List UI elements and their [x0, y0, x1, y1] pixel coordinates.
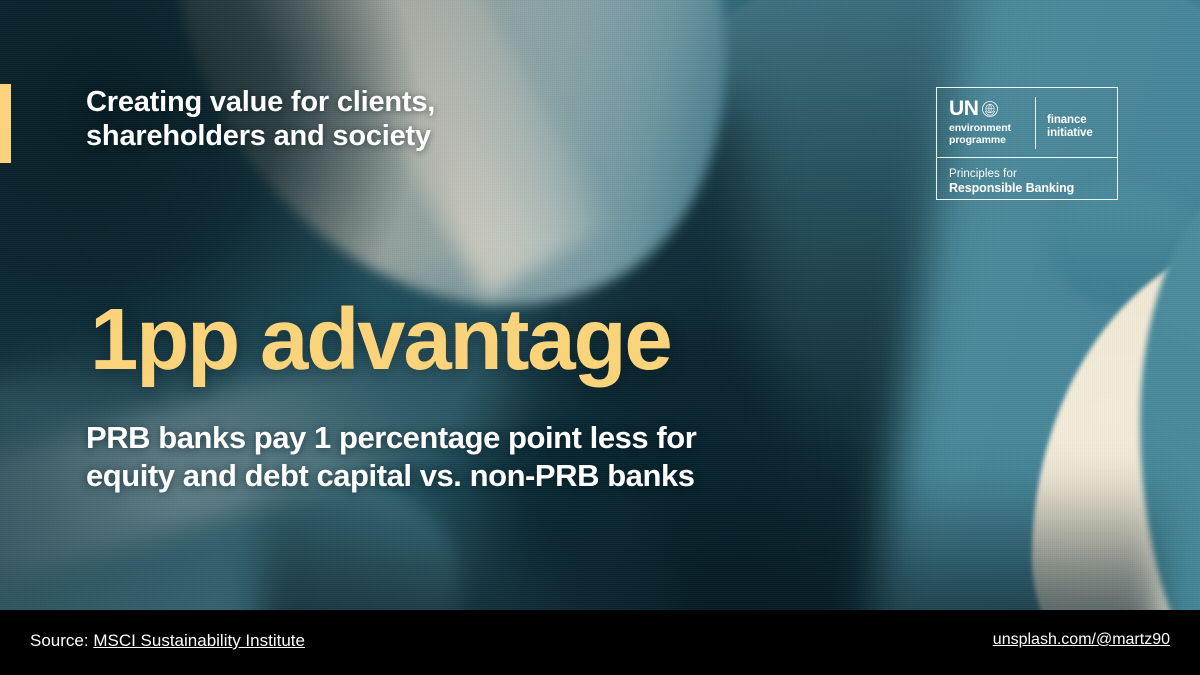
footer-bar: Source: MSCI Sustainability Institute un… [0, 610, 1200, 675]
logo-unep-block: UN environment programme [937, 88, 1033, 146]
kicker-line-1: Creating value for clients, [86, 86, 646, 120]
kicker-line-2: shareholders and society [86, 120, 646, 154]
photo-credit-link[interactable]: unsplash.com/@martz90 [993, 632, 1170, 648]
source-label: Source: [30, 631, 93, 650]
subheadline-line-2: equity and debt capital vs. non-PRB bank… [86, 457, 766, 495]
logo-top-section: UN environment programme [937, 88, 1117, 158]
unep-fi-prb-logo: UN environment programme [936, 87, 1118, 200]
fi-line-2: initiative [1047, 127, 1093, 140]
prb-line-1: Principles for [949, 167, 1117, 181]
unep-line-2: programme [949, 134, 1033, 146]
subheadline-line-1: PRB banks pay 1 percentage point less fo… [86, 419, 766, 457]
social-card: Creating value for clients, shareholders… [0, 0, 1200, 675]
kicker-heading: Creating value for clients, shareholders… [86, 86, 646, 153]
fi-line-1: finance [1047, 114, 1093, 127]
prb-line-2: Responsible Banking [949, 181, 1117, 196]
source-attribution: Source: MSCI Sustainability Institute [30, 632, 305, 649]
un-emblem-icon [982, 101, 998, 117]
source-link[interactable]: MSCI Sustainability Institute [93, 631, 305, 650]
headline-stat: 1pp advantage [90, 296, 671, 383]
unep-wordmark: environment programme [949, 122, 1033, 146]
yellow-accent-bar [0, 84, 11, 163]
unep-line-1: environment [949, 122, 1033, 134]
finance-initiative-wordmark: finance initiative [1033, 88, 1093, 141]
logo-vertical-divider [1035, 97, 1036, 149]
subheadline: PRB banks pay 1 percentage point less fo… [86, 419, 766, 494]
un-wordmark-row: UN [949, 98, 1033, 119]
logo-prb-section: Principles for Responsible Banking [937, 158, 1117, 196]
un-wordmark: UN [949, 98, 979, 119]
